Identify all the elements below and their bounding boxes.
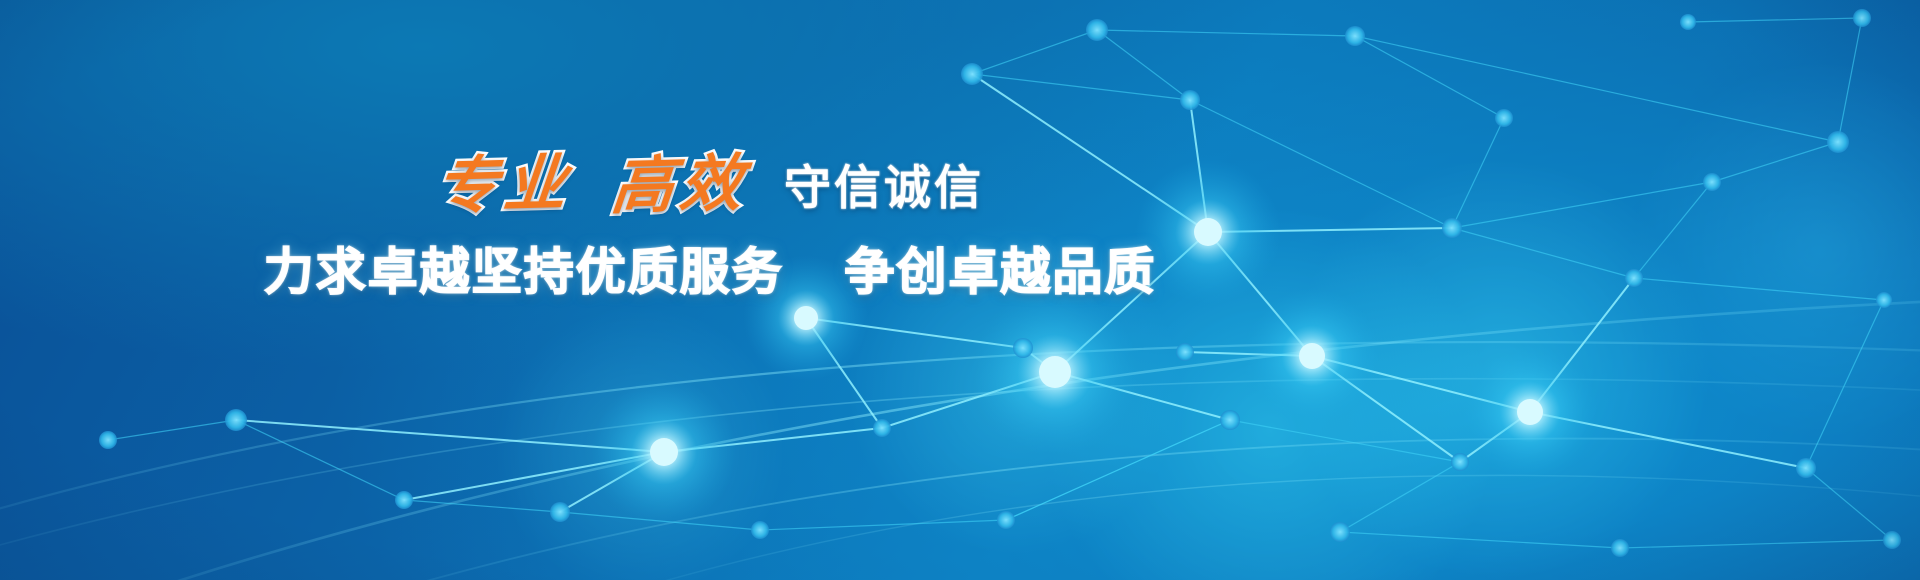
background-vignette <box>0 0 1920 580</box>
promo-banner: 专业 高效 守信诚信 力求卓越坚持优质服务 争创卓越品质 <box>0 0 1920 580</box>
